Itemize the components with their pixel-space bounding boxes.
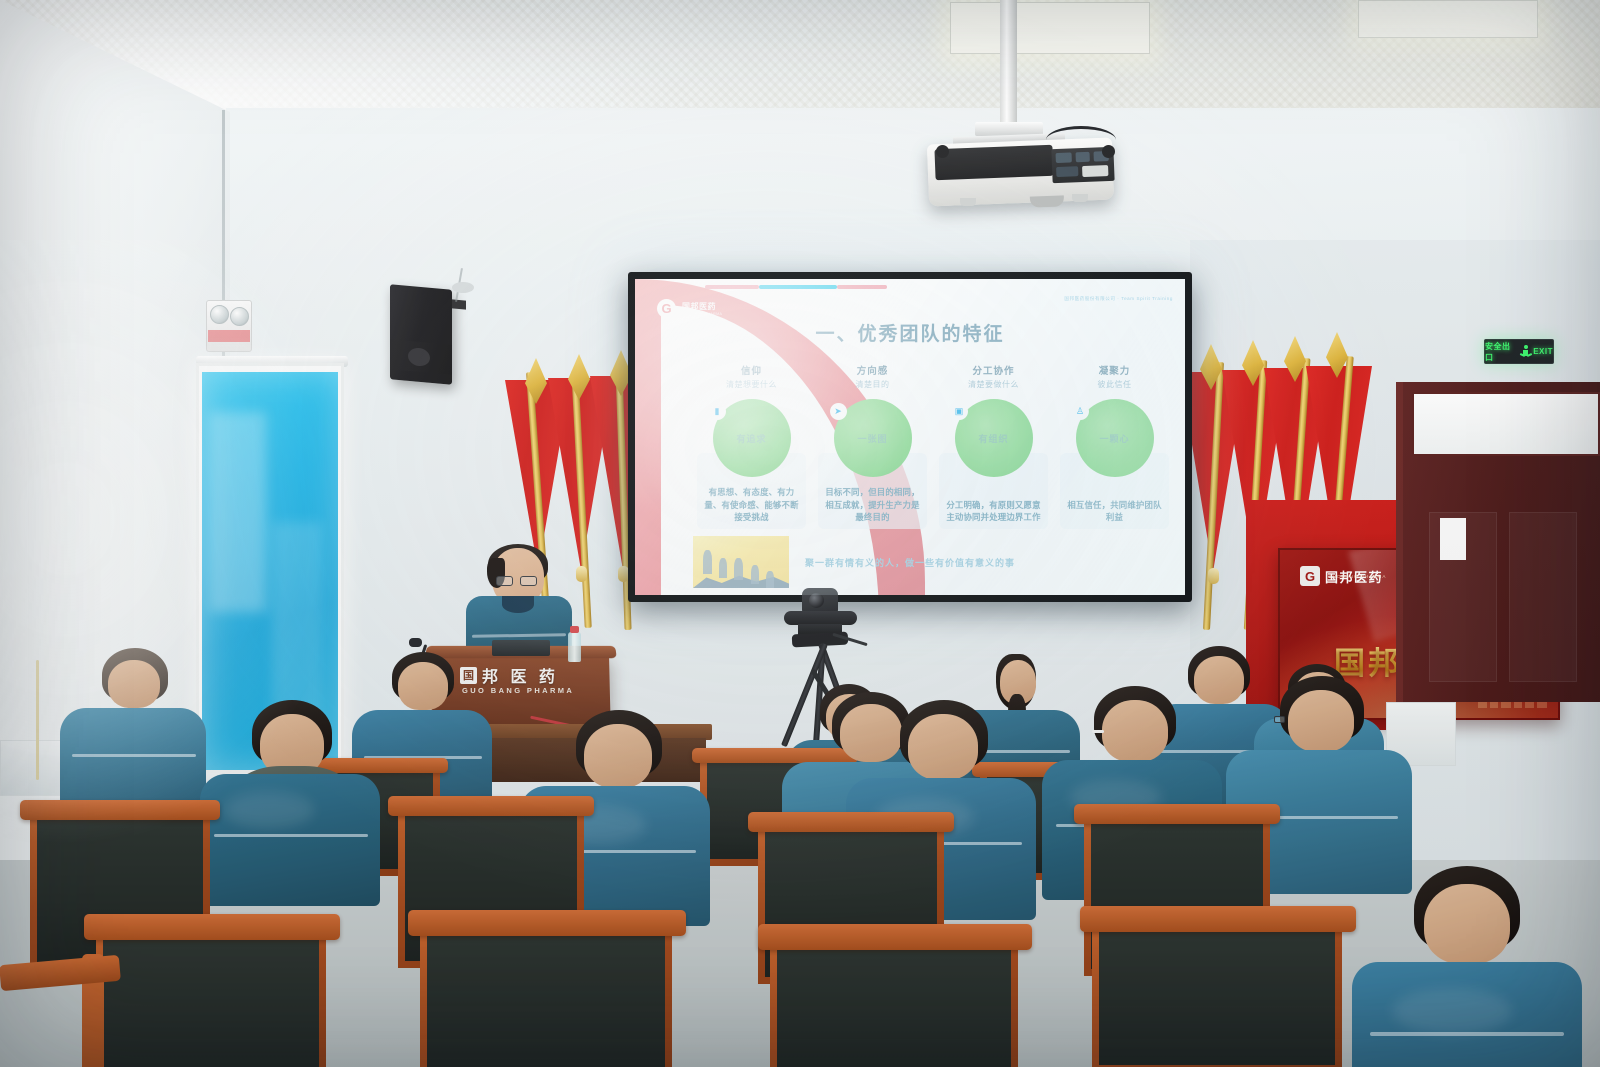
ceiling-light-panel xyxy=(1358,0,1538,38)
slide-column: 凝聚力 彼此信任 一颗心 ♙ 相互信任，共同维护团队利益 xyxy=(1058,363,1171,529)
audience-member xyxy=(60,648,206,798)
screen-hotspot xyxy=(635,279,938,532)
emergency-lamp-icon xyxy=(230,307,249,326)
emergency-lamp-icon xyxy=(210,305,229,324)
slide-header-note: 国邦医药股份有限公司 · Team Spirit Training xyxy=(1064,296,1173,302)
column-body: 分工明确，有原则又愿意主动协同并处理边界工作 xyxy=(943,499,1043,523)
column-heading: 分工协作 xyxy=(972,363,1014,377)
emergency-exit-sign: 安全出口 EXIT xyxy=(1484,339,1554,364)
column-body: 相互信任，共同维护团队利益 xyxy=(1064,499,1164,523)
emergency-light-label xyxy=(208,330,250,342)
presenter-collar xyxy=(502,596,534,613)
projection-screen: G 国邦医药 GUOBANG PHARMA 国邦医药股份有限公司 · Team … xyxy=(628,272,1192,602)
column-subheading: 清楚要做什么 xyxy=(968,379,1019,390)
podium-microphone-head xyxy=(409,638,422,647)
glasses-icon xyxy=(1274,716,1285,723)
audience-member xyxy=(200,700,380,900)
ceiling-light-panel xyxy=(950,2,1150,54)
mask-strap xyxy=(1092,730,1104,733)
column-circle: 有组织 ▣ xyxy=(955,399,1033,477)
presenter-glasses xyxy=(496,576,540,587)
lecture-hall-photo: G 国邦医药 GUOBANG PHARMA 国邦医药股份有限公司 · Team … xyxy=(0,0,1600,1067)
window-cord xyxy=(36,660,39,780)
exit-label-left: 安全出口 xyxy=(1485,341,1518,363)
column-heading: 凝聚力 xyxy=(1099,363,1131,377)
projector-control-panel xyxy=(934,145,1053,181)
slide-footer: 聚一群有情有义的人，做一些有价值有意义的事 xyxy=(693,536,1167,588)
audience-member xyxy=(1352,866,1582,1067)
podium-brand-cn: 邦 医 药 xyxy=(482,663,559,687)
projector-mount-pole xyxy=(1000,0,1017,128)
emergency-light xyxy=(206,300,252,352)
chair[interactable] xyxy=(96,930,326,1067)
chair[interactable] xyxy=(420,926,672,1067)
column-subheading: 彼此信任 xyxy=(1098,379,1132,390)
exit-label-right: EXIT xyxy=(1533,347,1553,356)
projector-foot xyxy=(960,198,976,206)
projector-cable xyxy=(1046,126,1116,154)
chair[interactable] xyxy=(1092,922,1342,1067)
door-transom-window xyxy=(1412,392,1600,456)
camera-lens-icon xyxy=(809,593,824,608)
handshake-icon: ♙ xyxy=(1072,403,1089,420)
teamwork-illustration xyxy=(693,536,789,588)
ceiling-detector xyxy=(452,282,474,293)
banner-logo-en: GUOBANG PHARMA xyxy=(1328,574,1386,579)
projector-foot xyxy=(1072,194,1088,202)
running-person-exit-icon xyxy=(1520,345,1532,359)
door-push-plate[interactable] xyxy=(1440,518,1466,560)
presenter-laptop xyxy=(492,640,550,656)
chair[interactable] xyxy=(770,940,1018,1067)
slide-column: 分工协作 清楚要做什么 有组织 ▣ 分工明确，有原则又愿意主动协同并处理边界工作 xyxy=(937,363,1050,529)
projector-focus-knob[interactable] xyxy=(936,145,949,158)
footer-caption: 聚一群有情有义的人，做一些有价值有意义的事 xyxy=(805,556,1015,569)
camera-base xyxy=(784,611,857,625)
water-bottle xyxy=(568,632,581,662)
toolbox-icon: ▣ xyxy=(951,403,968,420)
banner-logo-mark: G xyxy=(1300,566,1320,586)
screen-surface: G 国邦医药 GUOBANG PHARMA 国邦医药股份有限公司 · Team … xyxy=(635,279,1185,595)
column-circle: 一颗心 ♙ xyxy=(1076,399,1154,477)
bottle-cap xyxy=(570,626,579,633)
